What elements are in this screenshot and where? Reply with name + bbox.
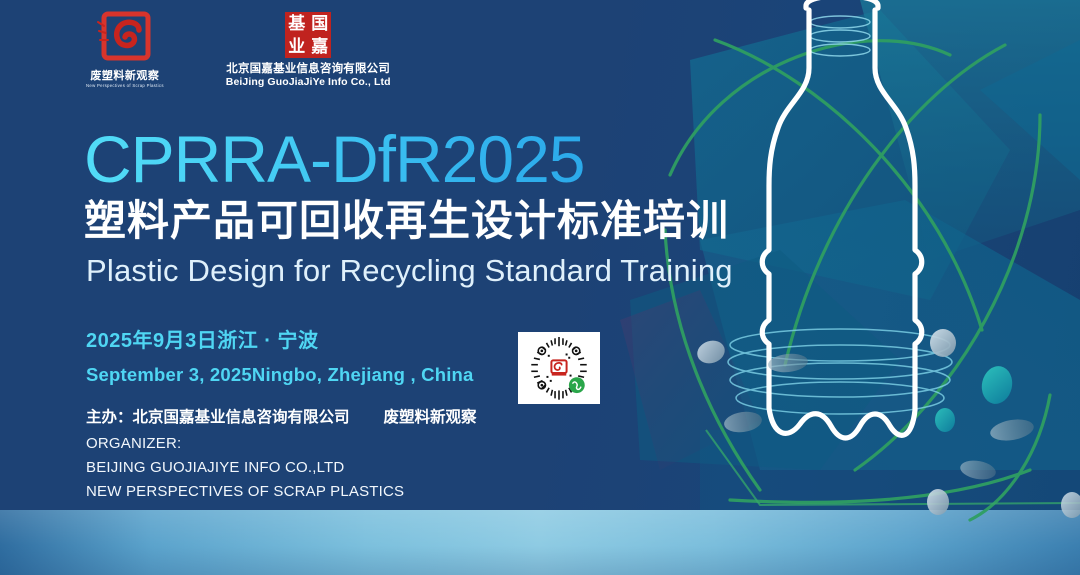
spiral-recycle-icon: [94, 10, 156, 66]
page-subtitle-cn: 塑料产品可回收再生设计标准培训: [84, 200, 729, 242]
page-subtitle-en: Plastic Design for Recycling Standard Tr…: [86, 253, 733, 289]
logo-scrap-plastics: 废塑料新观察 New Perspectives of Scrap Plastic…: [86, 10, 164, 88]
organizer-cn-partner: 废塑料新观察: [384, 410, 477, 426]
seal-char-3: 业: [285, 35, 308, 58]
organizer-cn-row: 主办：北京国嘉基业信息咨询有限公司 废塑料新观察: [86, 410, 477, 426]
poster-content: 废塑料新观察 New Perspectives of Scrap Plastic…: [0, 0, 700, 510]
seal-char-1: 基: [285, 12, 308, 35]
event-date-en: September 3, 2025Ningbo, Zhejiang , Chin…: [86, 366, 474, 385]
logo-guojiajiye-cn: 北京国嘉基业信息咨询有限公司: [226, 63, 390, 76]
logo-guojiajiye-en: BeiJing GuoJiaJiYe Info Co., Ltd: [226, 77, 391, 89]
event-date-cn: 2025年9月3日浙江 · 宁波: [86, 331, 319, 351]
logo-scrap-plastics-cn: 废塑料新观察: [90, 71, 159, 82]
wechat-qr-code[interactable]: [518, 332, 600, 404]
qr-code-icon: [521, 335, 597, 401]
poster-canvas: 废塑料新观察 New Perspectives of Scrap Plastic…: [0, 0, 1080, 575]
seal-char-4: 嘉: [308, 35, 331, 58]
organizer-cn-label: 主办：北京国嘉基业信息咨询有限公司: [86, 410, 350, 426]
logo-guojiajiye: 基 国 业 嘉 北京国嘉基业信息咨询有限公司 BeiJing GuoJiaJiY…: [226, 12, 391, 88]
logo-scrap-plastics-en: New Perspectives of Scrap Plastics: [86, 84, 164, 89]
organizer-en-block: ORGANIZER: BEIJING GUOJIAJIYE INFO CO.,L…: [86, 432, 404, 504]
logo-row: 废塑料新观察 New Perspectives of Scrap Plastic…: [86, 10, 391, 88]
seal-stamp-icon: 基 国 业 嘉: [285, 12, 331, 58]
seal-char-2: 国: [308, 12, 331, 35]
page-title: CPRRA-DfR2025: [84, 126, 585, 192]
